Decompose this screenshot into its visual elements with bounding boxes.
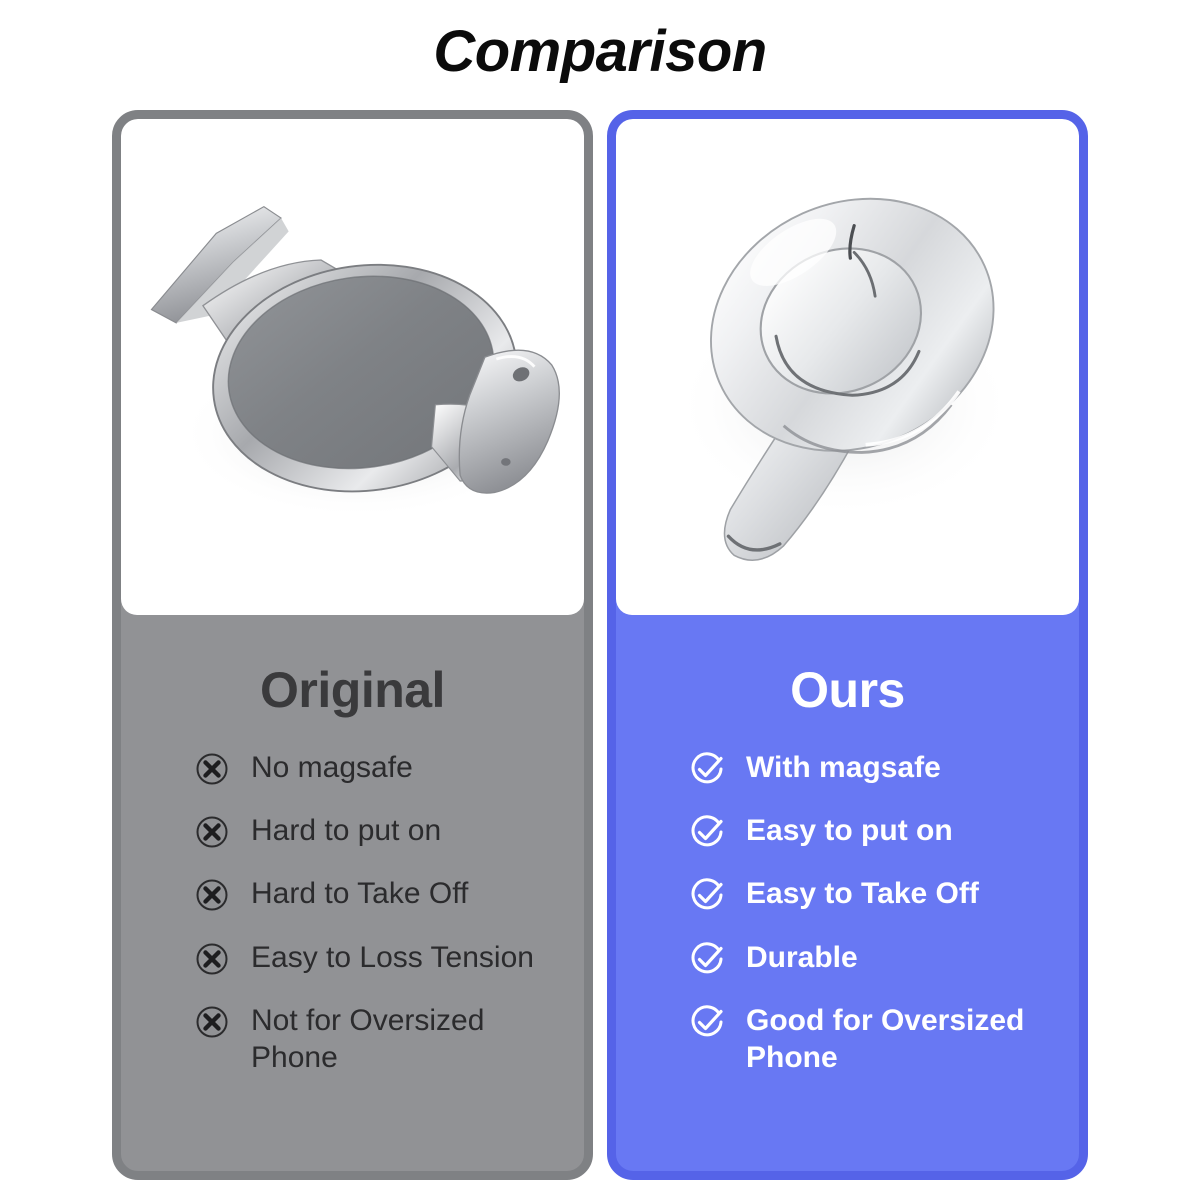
comparison-infographic: Comparison [0,0,1200,1200]
list-item: Hard to Take Off [195,875,568,912]
list-item: Easy to Take Off [690,875,1063,912]
feature-label: Hard to put on [251,812,441,849]
feature-list-ours: With magsafe Easy to put on Easy to Take… [616,749,1079,1076]
panel-ours: Ours With magsafe Easy to put on [607,110,1088,1180]
list-item: Hard to put on [195,812,568,849]
circle-x-icon [195,815,229,849]
page-title: Comparison [0,18,1200,85]
original-product-illustration [121,119,584,592]
feature-label: Easy to put on [746,812,953,849]
circle-x-icon [195,752,229,786]
panel-original: Original No magsafe Hard to put on [112,110,593,1180]
circle-check-icon [690,878,724,912]
list-item: Easy to put on [690,812,1063,849]
circle-x-icon [195,878,229,912]
list-item: Durable [690,939,1063,976]
feature-label: Good for Oversized Phone [746,1002,1063,1076]
feature-label: With magsafe [746,749,941,786]
list-item: Good for Oversized Phone [690,1002,1063,1076]
feature-label: Durable [746,939,858,976]
panel-heading-ours: Ours [616,661,1079,719]
feature-label: Not for Oversized Phone [251,1002,568,1076]
list-item: Not for Oversized Phone [195,1002,568,1076]
feature-label: Easy to Loss Tension [251,939,534,976]
list-item: With magsafe [690,749,1063,786]
feature-label: Hard to Take Off [251,875,468,912]
product-photo-original [121,119,584,615]
circle-check-icon [690,752,724,786]
list-item: No magsafe [195,749,568,786]
panel-heading-original: Original [121,661,584,719]
circle-check-icon [690,815,724,849]
circle-x-icon [195,1005,229,1039]
circle-x-icon [195,942,229,976]
circle-check-icon [690,942,724,976]
ours-product-illustration [616,119,1079,592]
list-item: Easy to Loss Tension [195,939,568,976]
circle-check-icon [690,1005,724,1039]
product-photo-ours [616,119,1079,615]
feature-label: No magsafe [251,749,413,786]
feature-list-original: No magsafe Hard to put on Hard to Take O… [121,749,584,1076]
comparison-panels: Original No magsafe Hard to put on [112,110,1088,1180]
feature-label: Easy to Take Off [746,875,979,912]
